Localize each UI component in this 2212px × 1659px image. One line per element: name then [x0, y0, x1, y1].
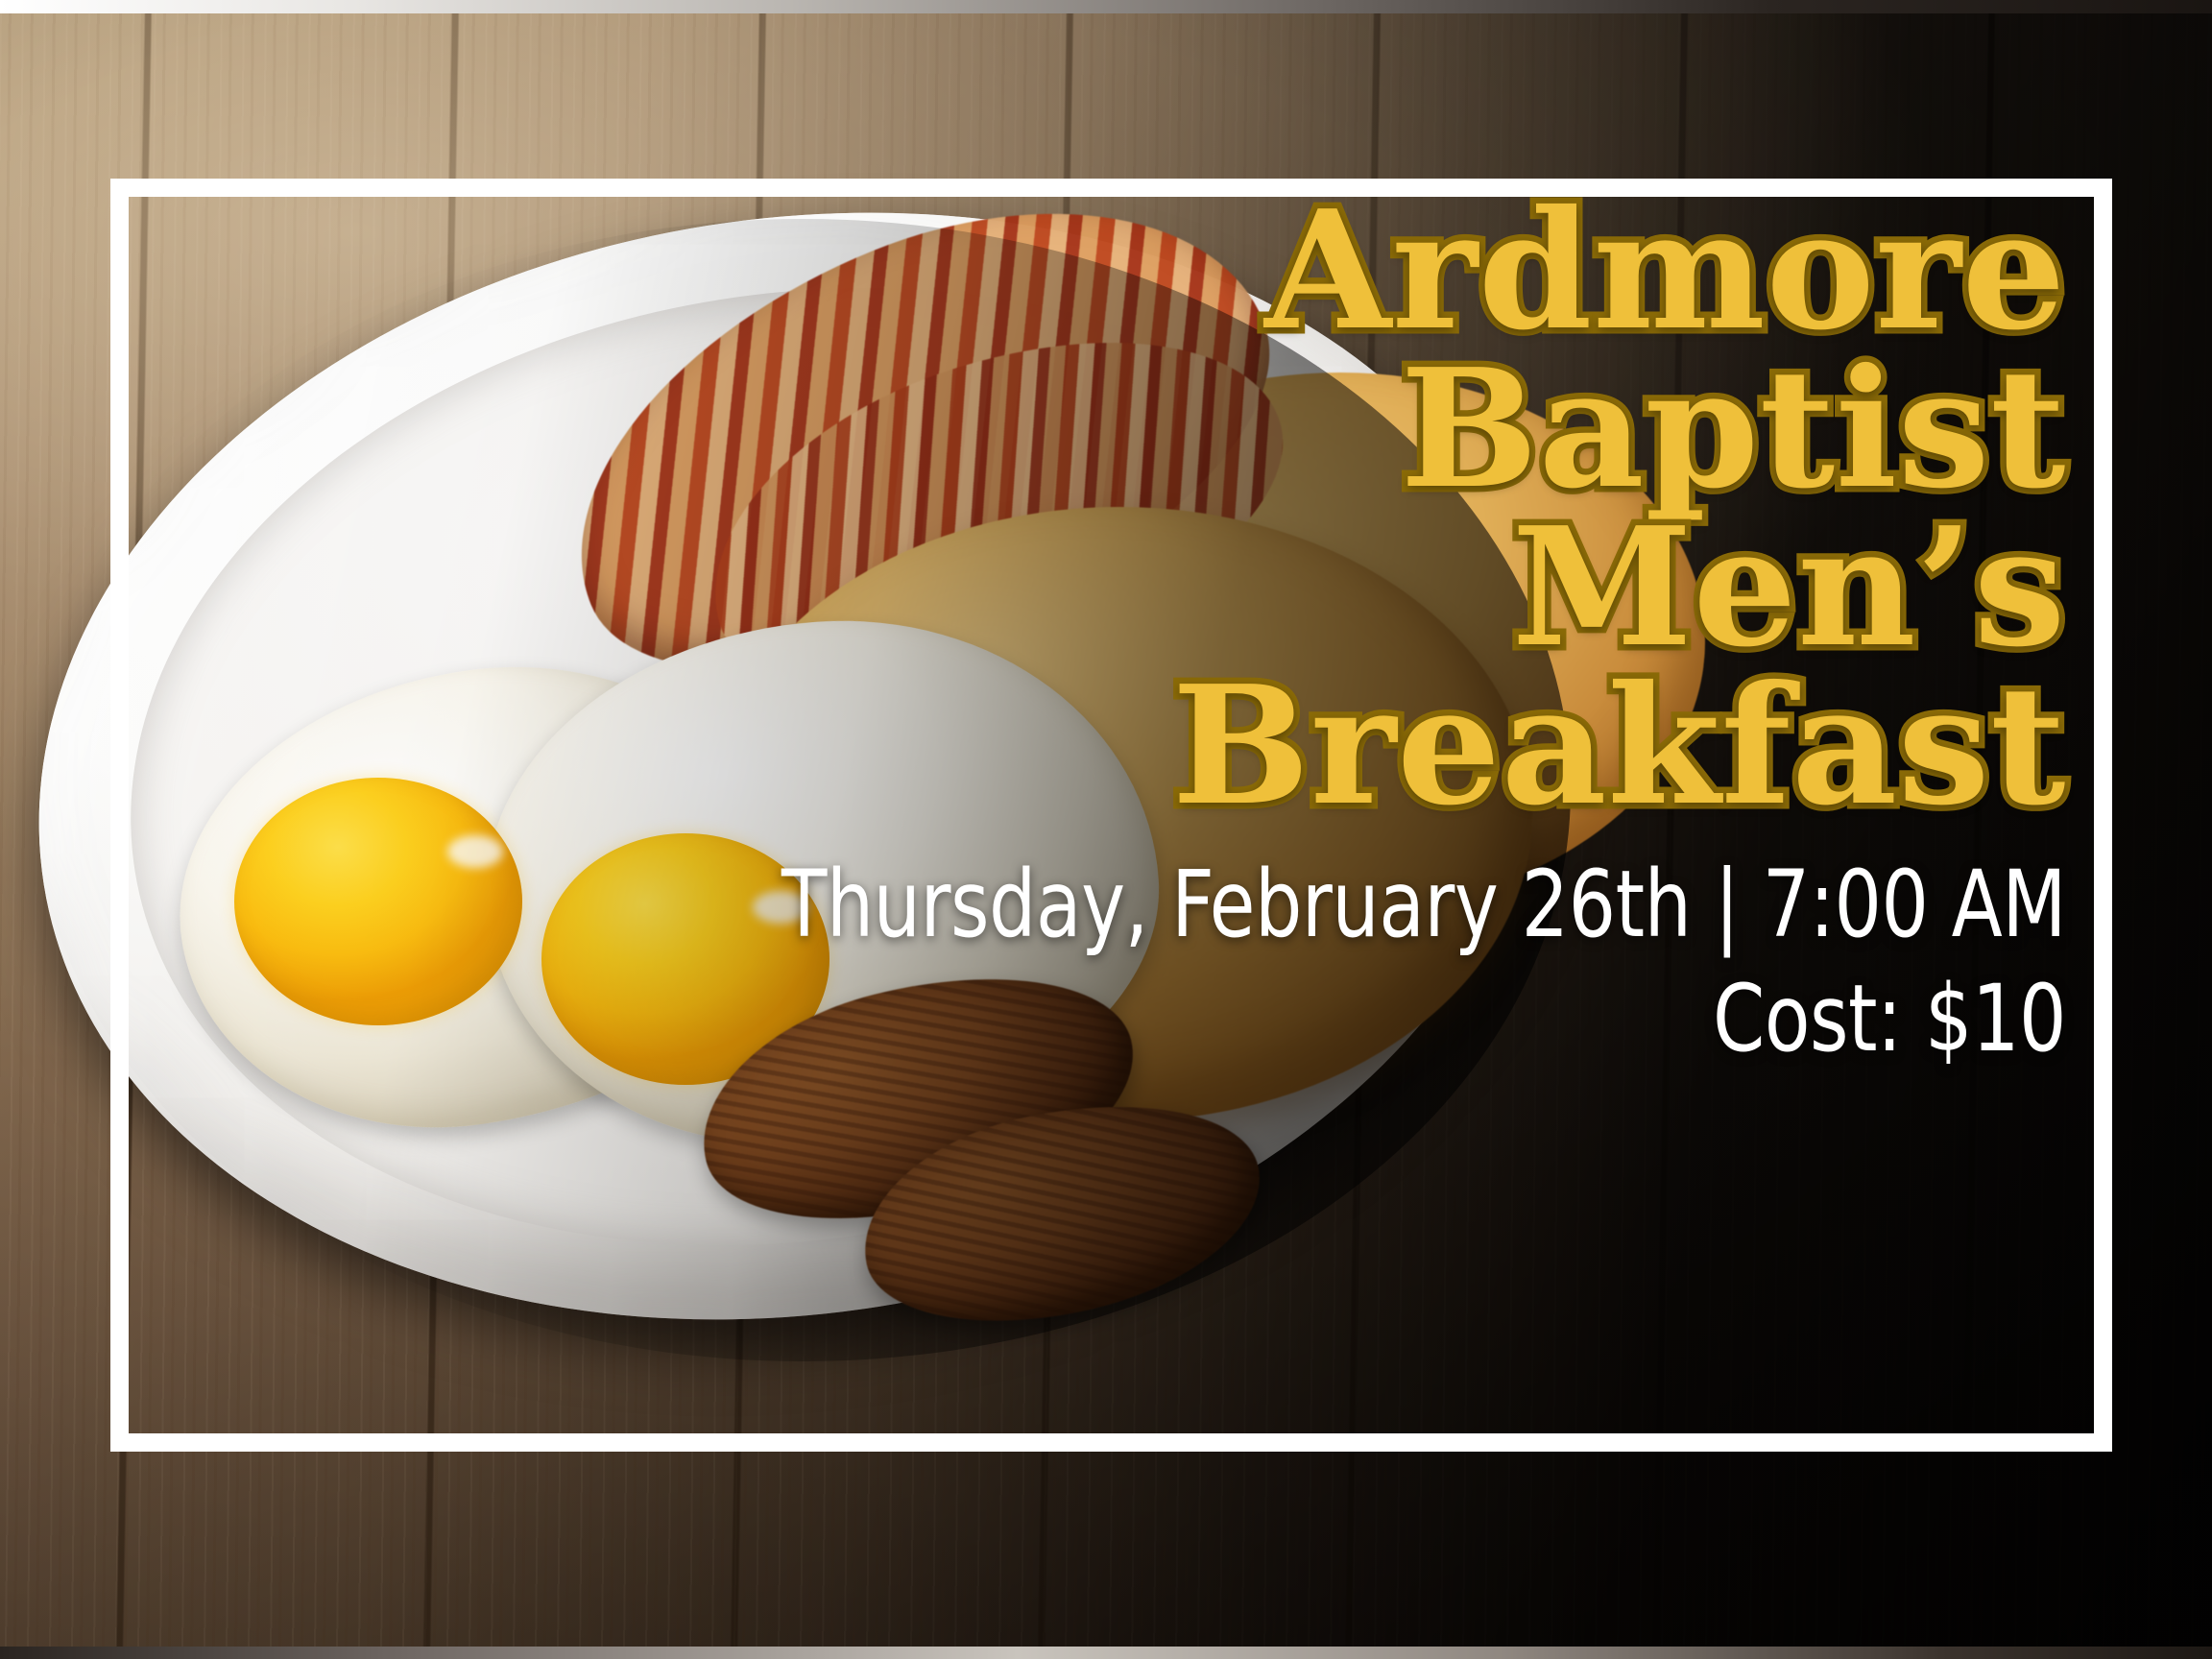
headline-line-2: Baptist — [154, 350, 2066, 509]
headline-line-3: Men’s — [154, 509, 2066, 667]
poster-text-block: Ardmore Baptist Men’s Breakfast Thursday… — [154, 192, 2066, 1073]
event-cost: Cost: $10 — [345, 965, 2066, 1073]
headline-line-1: Ardmore — [154, 192, 2066, 350]
photo-bottom-edge-highlight — [0, 1647, 2212, 1659]
event-datetime: Thursday, February 26th | 7:00 AM — [345, 851, 2066, 959]
poster-headline: Ardmore Baptist Men’s Breakfast — [154, 192, 2066, 826]
headline-line-4: Breakfast — [154, 667, 2066, 826]
poster-canvas: Ardmore Baptist Men’s Breakfast Thursday… — [0, 0, 2212, 1659]
photo-top-edge-highlight — [0, 0, 2212, 13]
